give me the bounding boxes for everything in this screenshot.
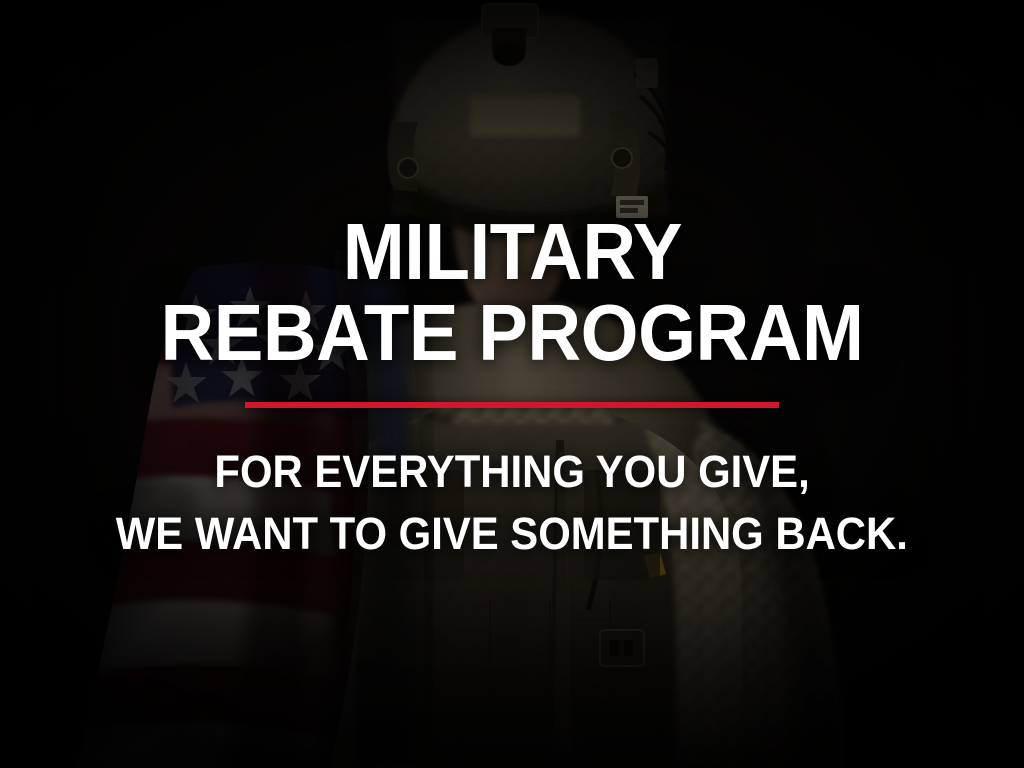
- poster-content: MILITARY REBATE PROGRAM FOR EVERYTHING Y…: [0, 0, 1024, 768]
- red-divider-rule: [245, 402, 779, 408]
- subhead-line-1: FOR EVERYTHING YOU GIVE,: [214, 449, 809, 494]
- military-rebate-poster: MILITARY REBATE PROGRAM FOR EVERYTHING Y…: [0, 0, 1024, 768]
- headline-line-2: REBATE PROGRAM: [160, 295, 863, 372]
- subhead-line-2: WE WANT TO GIVE SOMETHING BACK.: [116, 511, 908, 556]
- headline-line-1: MILITARY: [342, 214, 681, 291]
